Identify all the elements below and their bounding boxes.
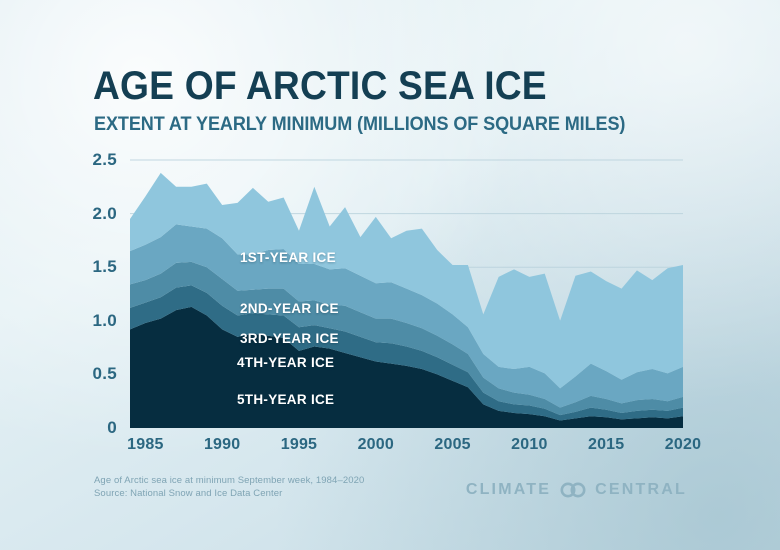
- logo-text-left: CLIMATE: [466, 481, 551, 499]
- x-axis-tick-label: 1995: [269, 436, 329, 454]
- series-label-2nd-year-ice: 2ND-YEAR ICE: [240, 301, 339, 316]
- series-label-3rd-year-ice: 3RD-YEAR ICE: [240, 331, 339, 346]
- climate-central-logo: CLIMATE CENTRAL: [466, 481, 687, 499]
- logo-text-right: CENTRAL: [595, 481, 687, 499]
- stacked-area-chart: [0, 0, 780, 550]
- x-axis-tick-label: 2005: [423, 436, 483, 454]
- series-label-4th-year-ice: 4TH-YEAR ICE: [237, 355, 334, 370]
- y-axis-tick-label: 1.0: [73, 311, 117, 331]
- y-axis-tick-label: 1.5: [73, 257, 117, 277]
- chart-caption: Age of Arctic sea ice at minimum Septemb…: [94, 474, 364, 500]
- y-axis-tick-label: 0: [73, 418, 117, 438]
- x-axis-tick-label: 2010: [499, 436, 559, 454]
- y-axis-tick-label: 2.0: [73, 204, 117, 224]
- x-axis-tick-label: 1985: [115, 436, 175, 454]
- y-axis-tick-label: 0.5: [73, 364, 117, 384]
- infographic-root: AGE OF ARCTIC SEA ICE EXTENT AT YEARLY M…: [0, 0, 780, 550]
- interlocking-rings-icon: [558, 482, 588, 498]
- x-axis-tick-label: 2015: [576, 436, 636, 454]
- series-label-1st-year-ice: 1ST-YEAR ICE: [240, 250, 336, 265]
- x-axis-tick-label: 2000: [346, 436, 406, 454]
- caption-line-2: Source: National Snow and Ice Data Cente…: [94, 487, 364, 500]
- y-axis-tick-label: 2.5: [73, 150, 117, 170]
- x-axis-tick-label: 2020: [653, 436, 713, 454]
- caption-line-1: Age of Arctic sea ice at minimum Septemb…: [94, 474, 364, 487]
- series-label-5th-year-ice: 5TH-YEAR ICE: [237, 392, 334, 407]
- x-axis-tick-label: 1990: [192, 436, 252, 454]
